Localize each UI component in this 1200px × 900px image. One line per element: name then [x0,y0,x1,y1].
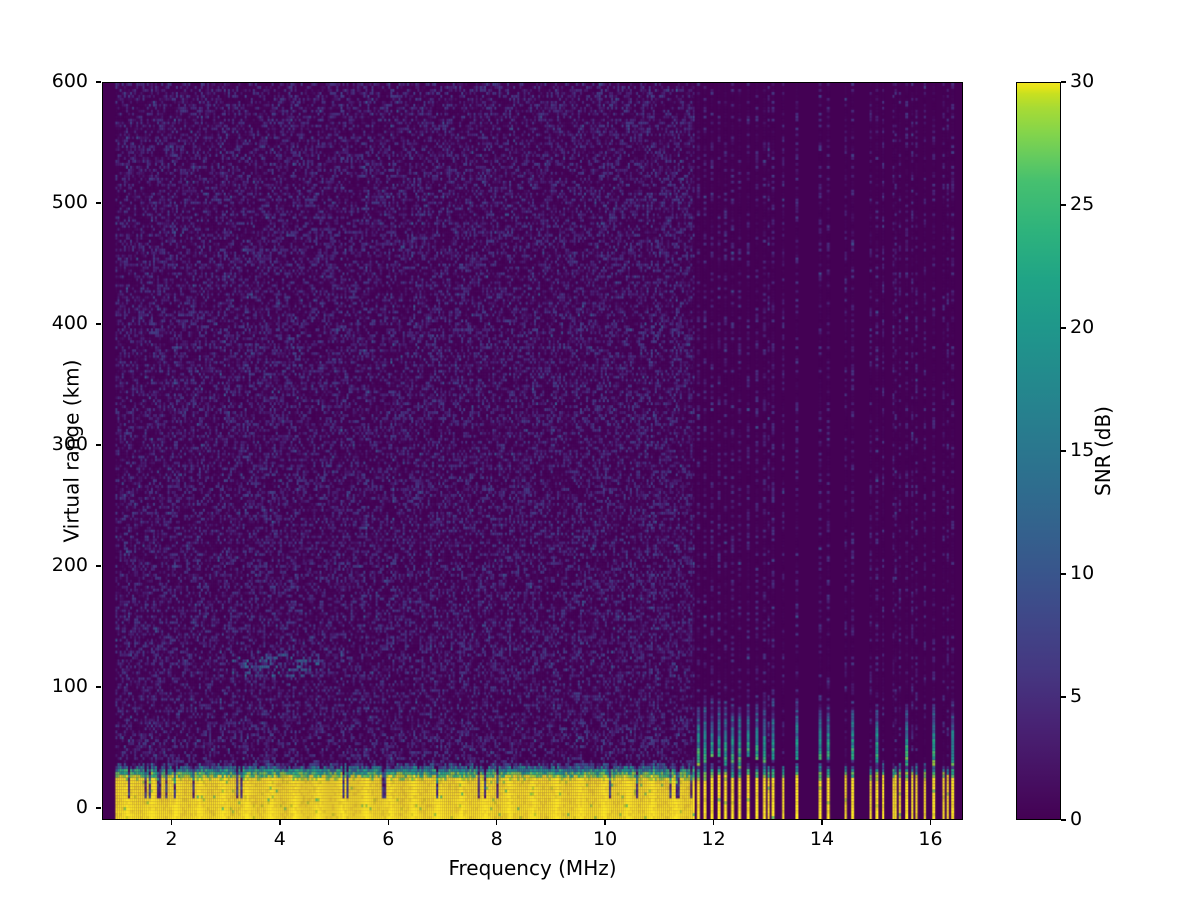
y-axis-tick [96,81,101,82]
colorbar-tick [1061,819,1066,820]
colorbar [1016,82,1061,820]
ionogram-heatmap [103,83,962,819]
x-axis-tick [496,820,497,825]
colorbar-tick-label: 10 [1070,562,1094,584]
y-axis-tick [96,323,101,324]
x-axis-tick-label: 8 [467,828,527,850]
y-axis-tick [96,565,101,566]
ionogram-figure: IRF Kiruna Ionosonde KI167 2025-11-21 02… [0,0,1200,900]
y-axis-tick-label: 400 [18,312,88,334]
y-axis-tick [96,202,101,203]
colorbar-tick-label: 0 [1070,808,1082,830]
x-axis-tick-label: 6 [358,828,418,850]
y-axis-tick-label: 200 [18,554,88,576]
colorbar-tick-label: 20 [1070,316,1094,338]
x-axis-tick-label: 10 [575,828,635,850]
x-axis-tick [171,820,172,825]
x-axis-tick-label: 12 [684,828,744,850]
x-axis-tick-label: 16 [900,828,960,850]
plot-area [102,82,963,820]
y-axis-tick [96,444,101,445]
x-axis-tick [279,820,280,825]
y-axis-tick [96,807,101,808]
colorbar-tick-label: 5 [1070,685,1082,707]
x-axis-title: Frequency (MHz) [102,856,963,880]
y-axis-tick-label: 300 [18,433,88,455]
colorbar-tick [1061,696,1066,697]
x-axis-tick-label: 14 [792,828,852,850]
colorbar-tick-label: 30 [1070,70,1094,92]
x-axis-tick-label: 2 [141,828,201,850]
colorbar-tick [1061,327,1066,328]
colorbar-tick [1061,450,1066,451]
colorbar-tick-label: 15 [1070,439,1094,461]
x-axis-tick [388,820,389,825]
x-axis-tick [604,820,605,825]
x-axis-tick [821,820,822,825]
colorbar-title: SNR (dB) [1091,406,1115,496]
x-axis-tick [713,820,714,825]
x-axis-tick [930,820,931,825]
y-axis-tick-label: 500 [18,191,88,213]
x-axis-tick-label: 4 [250,828,310,850]
y-axis-tick-label: 600 [18,70,88,92]
y-axis-tick [96,686,101,687]
colorbar-title-wrap: SNR (dB) [1108,82,1136,820]
colorbar-tick [1061,204,1066,205]
y-axis-tick-label: 0 [18,796,88,818]
colorbar-tick [1061,573,1066,574]
colorbar-tick-label: 25 [1070,193,1094,215]
y-axis-tick-label: 100 [18,675,88,697]
colorbar-tick [1061,81,1066,82]
